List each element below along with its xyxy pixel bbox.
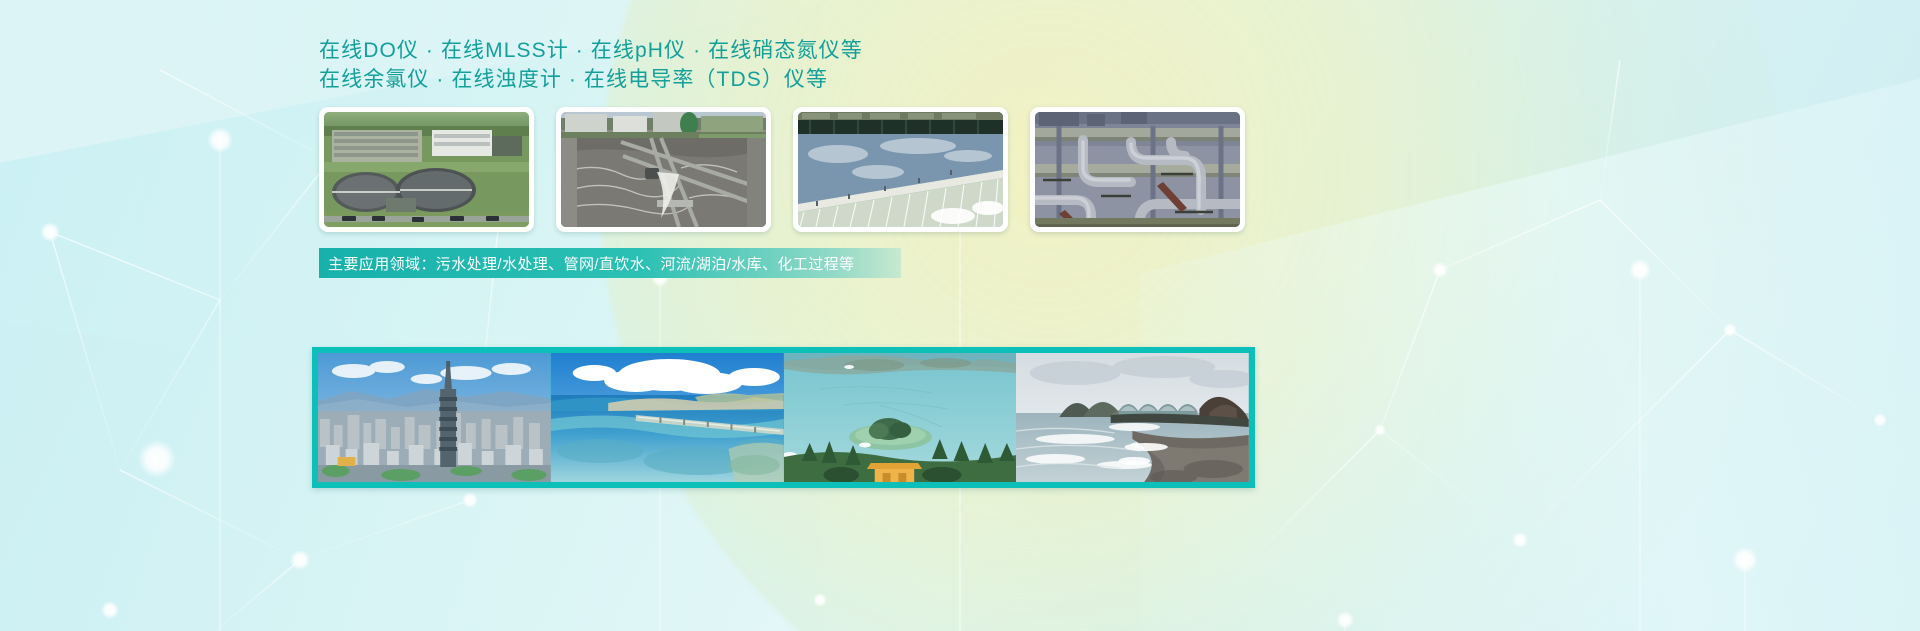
filmstrip-image-coastal-bridge[interactable]: [551, 353, 784, 482]
caption-text: 主要应用领域：污水处理/水处理、管网/直饮水、河流/湖泊/水库、化工过程等: [328, 253, 854, 274]
headline-line-1: 在线DO仪 · 在线MLSS计 · 在线pH仪 · 在线硝态氮仪等: [319, 36, 863, 65]
thumbnail-image: [561, 112, 766, 227]
thumbnail-image: [324, 112, 529, 227]
filmstrip-image-lake-island[interactable]: [784, 353, 1017, 482]
thumbnail-wastewater-plant[interactable]: [319, 107, 534, 232]
thumbnail-image: [1035, 112, 1240, 227]
headline-text: 在线DO仪 · 在线MLSS计 · 在线pH仪 · 在线硝态氮仪等 在线余氯仪 …: [319, 36, 863, 94]
thumbnail-image: [798, 112, 1003, 227]
filmstrip-image-rocky-shore-bridge[interactable]: [1016, 353, 1249, 482]
application-fields-caption-bar: 主要应用领域：污水处理/水处理、管网/直饮水、河流/湖泊/水库、化工过程等: [319, 248, 901, 278]
network-dots-pattern: [0, 0, 1920, 631]
temple: [866, 463, 921, 482]
scenery-filmstrip: [312, 347, 1255, 488]
banner-root: 在线DO仪 · 在线MLSS计 · 在线pH仪 · 在线硝态氮仪等 在线余氯仪 …: [0, 0, 1920, 631]
headline-line-2: 在线余氯仪 · 在线浊度计 · 在线电导率（TDS）仪等: [319, 65, 863, 94]
thumbnail-row: [319, 107, 1245, 232]
thumbnail-weir-overflow[interactable]: [793, 107, 1008, 232]
filmstrip-image-city-skyline[interactable]: [318, 353, 551, 482]
thumbnail-aeration-basin[interactable]: [556, 107, 771, 232]
thumbnail-chemical-piping[interactable]: [1030, 107, 1245, 232]
